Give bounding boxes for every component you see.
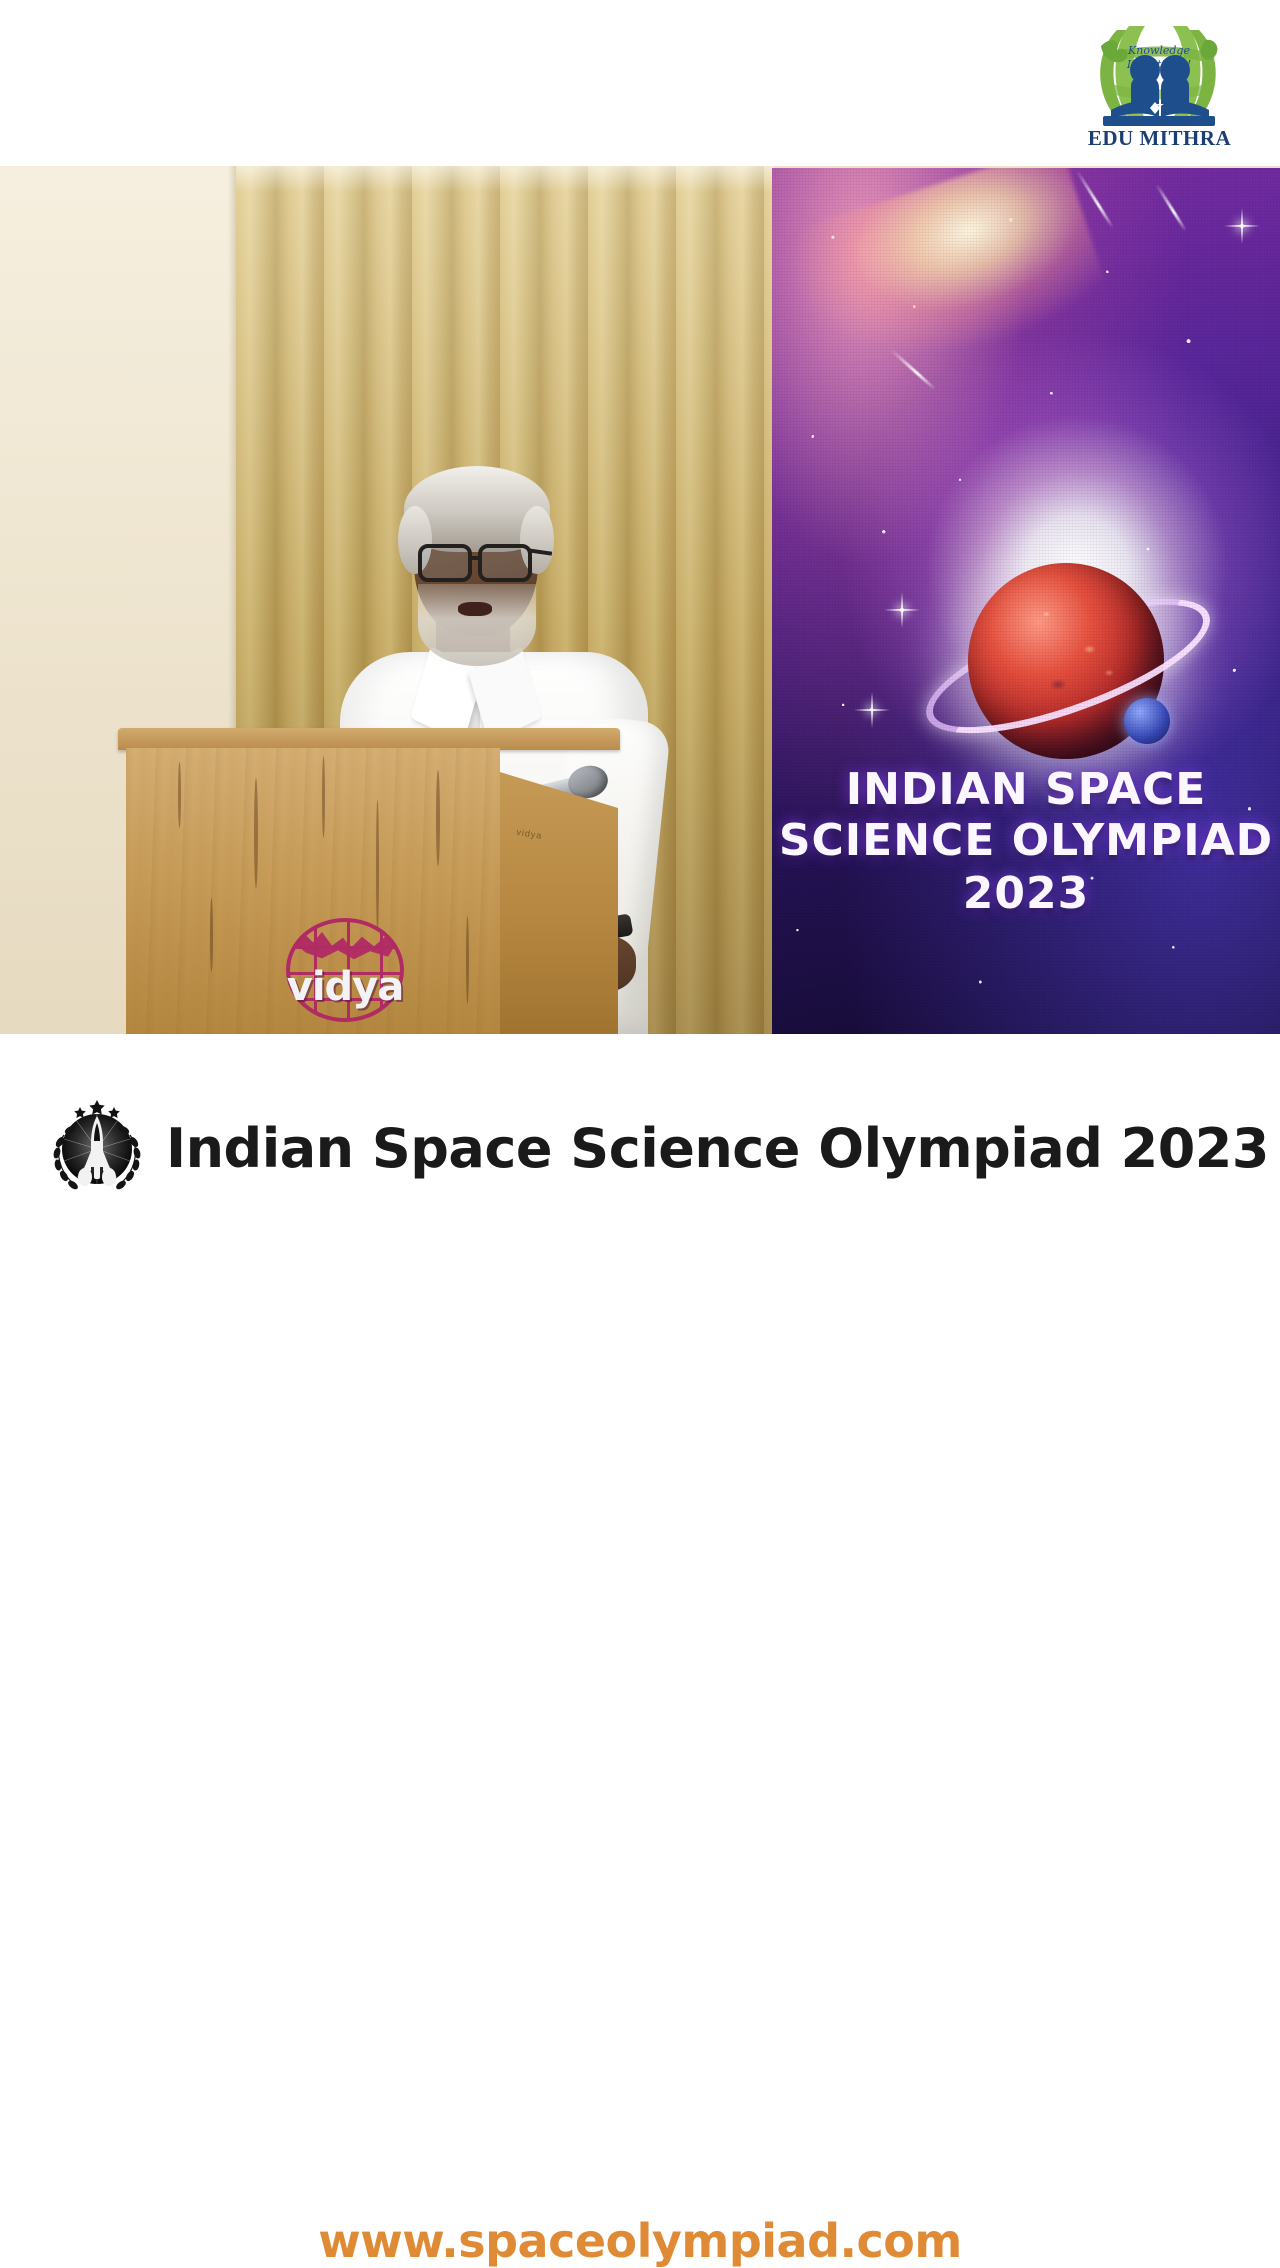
globe-children-book-logo-icon: Knowledge It Matters !: [1087, 18, 1232, 130]
footer-website-url[interactable]: www.spaceolympiad.com: [0, 2214, 1280, 2268]
glasses-lens-right: [478, 544, 532, 582]
glasses-bridge: [470, 556, 482, 560]
banner-headline-year: 2023: [772, 872, 1280, 917]
vidya-wordmark: vidya: [252, 964, 438, 1010]
olympiad-banner: INDIAN SPACE SCIENCE OLYMPIAD 2023: [772, 168, 1280, 1034]
speaker-mouth: [458, 602, 492, 616]
wood-grain: [322, 756, 325, 838]
poster-root: Knowledge It Matters ! EDU MITHRA: [0, 0, 1280, 1280]
footer-event-title: Indian Space Science Olympiad 2023: [166, 1117, 1269, 1180]
glasses-lens-left: [418, 544, 472, 582]
logo-tagline-line2: It Matters !: [1126, 58, 1191, 71]
banner-headline: INDIAN SPACE SCIENCE OLYMPIAD 2023: [772, 768, 1280, 917]
space-shuttle-laurel-badge-icon: [44, 1095, 150, 1201]
footer-title-row: Indian Space Science Olympiad 2023: [0, 1100, 1280, 1196]
wooden-podium: vidya vidya: [118, 728, 620, 1034]
wood-grain: [254, 778, 258, 888]
vidya-logo: vidya: [252, 918, 438, 1026]
wood-grain: [178, 762, 181, 828]
wood-grain: [466, 916, 469, 1004]
logo-tagline-line1: Knowledge: [1127, 44, 1190, 57]
wood-grain: [210, 898, 213, 972]
banner-headline-line1: INDIAN SPACE: [772, 768, 1280, 813]
wood-grain: [376, 800, 379, 932]
wood-grain: [436, 770, 440, 866]
header-bar: Knowledge It Matters ! EDU MITHRA: [0, 0, 1280, 166]
edu-mithra-wordmark: EDU MITHRA: [1087, 126, 1232, 151]
podium-top-ledge: [118, 728, 620, 750]
curtain-highlight: [236, 166, 774, 192]
edu-mithra-logo: Knowledge It Matters ! EDU MITHRA: [1087, 18, 1232, 158]
footer-bar: Indian Space Science Olympiad 2023 www.s…: [0, 1034, 1280, 1280]
podium-side-panel: [500, 772, 618, 1034]
podium-front-panel: vidya: [126, 748, 500, 1034]
event-photo: INDIAN SPACE SCIENCE OLYMPIAD 2023: [0, 166, 1280, 1034]
banner-headline-line2: SCIENCE OLYMPIAD: [772, 819, 1280, 864]
speaker-beard: [418, 584, 536, 666]
